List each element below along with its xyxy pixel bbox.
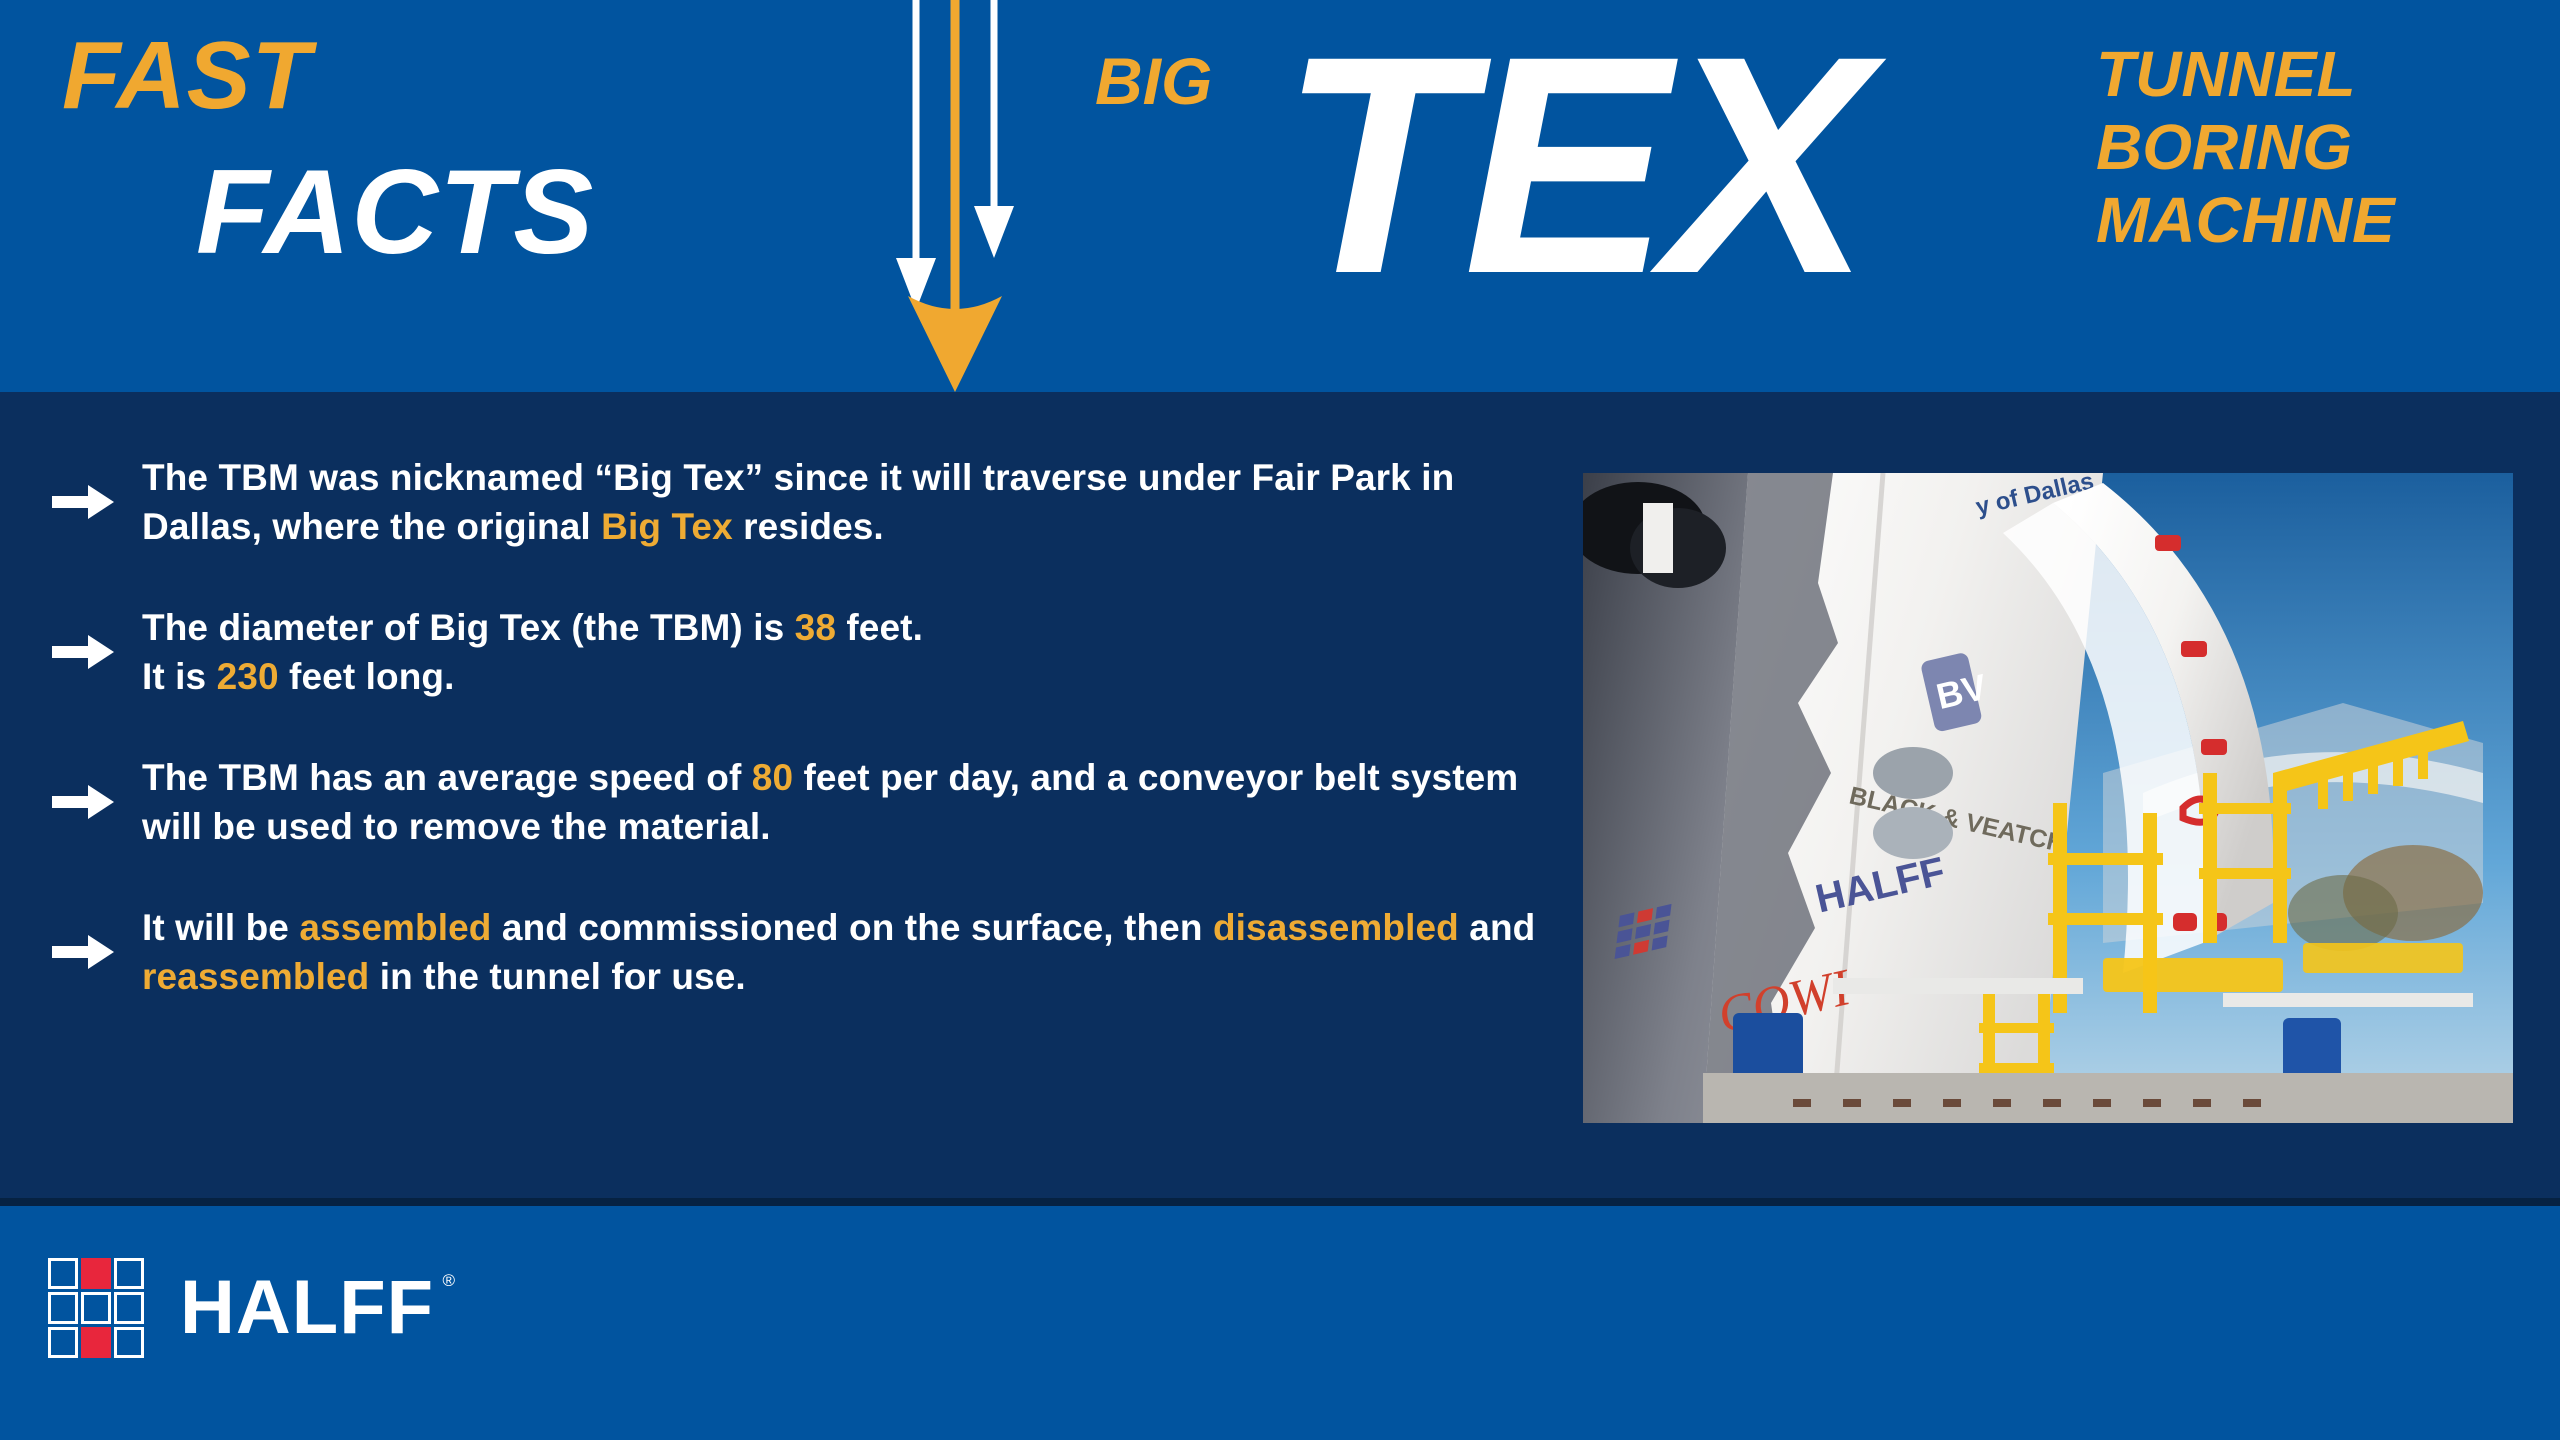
halff-cell-3: [114, 1258, 144, 1289]
tbm-line-3: MACHINE: [2096, 184, 2556, 257]
fact-highlight: 38: [795, 607, 836, 648]
tbm-photo: y of Dallas BV BLACK & VEATCH: [1583, 473, 2513, 1123]
fact-row: It will be assembled and commissioned on…: [40, 902, 1540, 1002]
right-arrow-icon: [40, 635, 142, 669]
tbm-photo-illustration: y of Dallas BV BLACK & VEATCH: [1583, 473, 2513, 1123]
fact-highlight: Big Tex: [601, 506, 733, 547]
facts-headline: FACTS: [196, 152, 594, 272]
halff-cell-1: [48, 1258, 78, 1289]
fact-segment: The diameter of Big Tex (the TBM) is: [142, 607, 795, 648]
tbm-line-1: TUNNEL: [2096, 38, 2556, 111]
fact-highlight: disassembled: [1213, 907, 1459, 948]
halff-cell-8: [81, 1327, 111, 1358]
fact-highlight: assembled: [299, 907, 491, 948]
fact-text: The TBM has an average speed of 80 feet …: [142, 753, 1540, 851]
infographic-canvas: FAST FACTS BIG TEX TUNNEL BORING MACHINE…: [0, 0, 2560, 1440]
tbm-photo-inner: y of Dallas BV BLACK & VEATCH: [1583, 473, 2513, 1123]
fact-segment: It is: [142, 656, 217, 697]
fact-row: The TBM was nicknamed “Big Tex” since it…: [40, 452, 1540, 552]
fact-text: The diameter of Big Tex (the TBM) is 38 …: [142, 603, 1540, 701]
facts-list: The TBM was nicknamed “Big Tex” since it…: [40, 452, 1540, 1052]
fact-text: The TBM was nicknamed “Big Tex” since it…: [142, 453, 1540, 551]
fact-text: It will be assembled and commissioned on…: [142, 903, 1540, 1001]
halff-grid-logo-icon: [48, 1258, 144, 1358]
halff-cell-5: [81, 1292, 111, 1323]
tunnel-boring-machine-subtitle: TUNNEL BORING MACHINE: [2096, 38, 2556, 257]
halff-cell-9: [114, 1327, 144, 1358]
halff-wordmark: HALFF ®: [180, 1270, 434, 1346]
tex-headline: TEX: [1280, 10, 1865, 320]
big-headline: BIG: [1095, 48, 1212, 114]
fact-segment: and commissioned on the surface, then: [492, 907, 1213, 948]
fast-headline: FAST: [62, 28, 311, 124]
down-arrow-icon: [880, 0, 1060, 392]
fact-row: The diameter of Big Tex (the TBM) is 38 …: [40, 602, 1540, 702]
fact-highlight: reassembled: [142, 956, 369, 997]
right-arrow-icon: [40, 785, 142, 819]
right-arrow-icon: [40, 485, 142, 519]
right-arrow-icon: [40, 935, 142, 969]
fact-segment: feet long.: [279, 656, 455, 697]
header-band: FAST FACTS BIG TEX TUNNEL BORING MACHINE: [0, 0, 2560, 392]
halff-cell-7: [48, 1327, 78, 1358]
fact-segment: and: [1459, 907, 1535, 948]
fact-row: The TBM has an average speed of 80 feet …: [40, 752, 1540, 852]
halff-cell-4: [48, 1292, 78, 1323]
halff-cell-2: [81, 1258, 111, 1289]
tbm-line-2: BORING: [2096, 111, 2556, 184]
halff-logo[interactable]: HALFF ®: [48, 1258, 434, 1358]
fact-segment: It will be: [142, 907, 299, 948]
fact-segment: feet.: [836, 607, 923, 648]
fact-segment: resides.: [733, 506, 884, 547]
fact-segment: The TBM has an average speed of: [142, 757, 752, 798]
fact-highlight: 80: [752, 757, 793, 798]
fact-highlight: 230: [217, 656, 279, 697]
fact-segment: in the tunnel for use.: [369, 956, 745, 997]
registered-mark: ®: [443, 1272, 457, 1289]
halff-cell-6: [114, 1292, 144, 1323]
halff-wordmark-text: HALFF: [180, 1265, 434, 1350]
footer-divider: [0, 1198, 2560, 1206]
